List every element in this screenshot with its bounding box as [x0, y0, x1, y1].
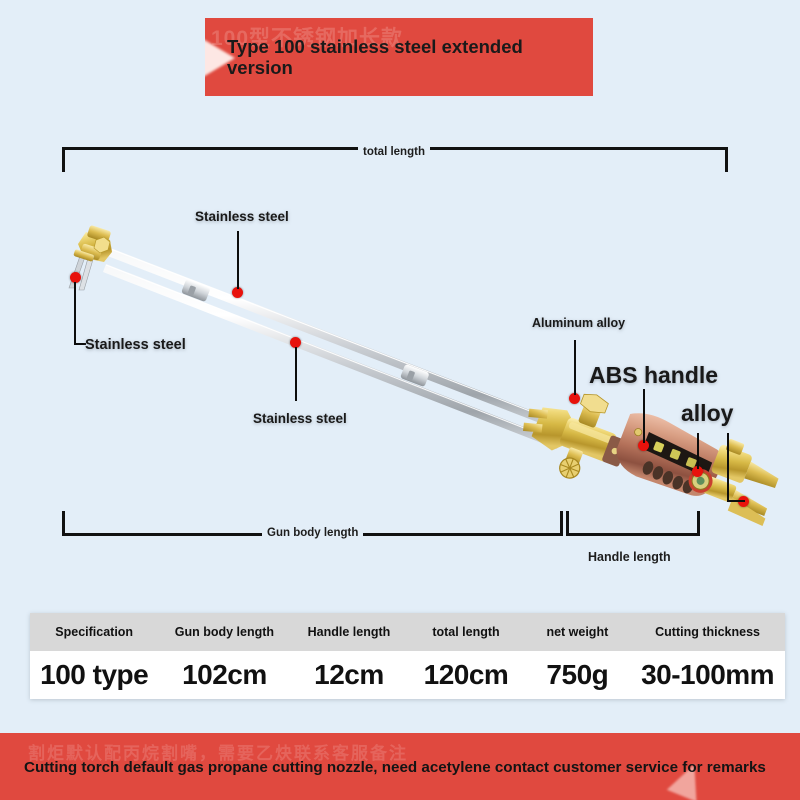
- footer-banner: 割炬默认配丙烷割嘴，需要乙炔联系客服备注 Cutting torch defau…: [0, 733, 800, 800]
- spec-value-cutting-thickness: 30-100mm: [630, 651, 785, 699]
- bracket-label-gun-body-length: Gun body length: [262, 527, 363, 539]
- spec-value-net-weight: 750g: [525, 651, 631, 699]
- leader-line-upper-tube: [237, 231, 239, 289]
- callout-label-upper-tube-stainless-steel: Stainless steel: [195, 209, 289, 224]
- footer-note: Cutting torch default gas propane cuttin…: [24, 759, 784, 776]
- spec-header-net-weight: net weight: [525, 613, 631, 651]
- spec-header-gun-body-length: Gun body length: [158, 613, 290, 651]
- bracket-label-handle-length: Handle length: [583, 550, 676, 564]
- spec-value-handle-length: 12cm: [290, 651, 407, 699]
- leader-line-alloy-upper: [697, 433, 699, 469]
- leader-line-alloy-lower: [727, 433, 729, 501]
- spec-header-specification: Specification: [30, 613, 158, 651]
- spec-header-cutting-thickness: Cutting thickness: [630, 613, 785, 651]
- spec-table: Specification Gun body length Handle len…: [30, 613, 785, 699]
- spec-value-specification: 100 type: [30, 651, 158, 699]
- leader-line-aluminum-alloy: [574, 340, 576, 395]
- spec-header-handle-length: Handle length: [290, 613, 407, 651]
- callout-label-lower-tube-stainless-steel: Stainless steel: [253, 411, 347, 426]
- product-infographic: 100型不锈钢加长款 Type 100 stainless steel exte…: [0, 0, 800, 800]
- spec-value-total-length: 120cm: [407, 651, 524, 699]
- callout-label-aluminum-alloy: Aluminum alloy: [532, 316, 625, 330]
- callout-label-abs-handle: ABS handle: [589, 362, 718, 389]
- leader-elbow-alloy-lower: [727, 500, 745, 502]
- callout-label-tip-stainless-steel: Stainless steel: [85, 337, 186, 353]
- spec-table-value-row: 100 type 102cm 12cm 120cm 750g 30-100mm: [30, 651, 785, 699]
- leader-line-tip: [74, 282, 76, 344]
- title-banner: 100型不锈钢加长款 Type 100 stainless steel exte…: [205, 18, 593, 96]
- page-title: Type 100 stainless steel extended versio…: [227, 18, 587, 96]
- leader-line-lower-tube: [295, 347, 297, 401]
- spec-header-total-length: total length: [407, 613, 524, 651]
- leader-line-abs-handle: [643, 389, 645, 443]
- bracket-handle-length: [566, 511, 700, 536]
- callout-label-alloy: alloy: [681, 400, 733, 427]
- spec-value-gun-body-length: 102cm: [158, 651, 290, 699]
- bracket-label-total-length: total length: [358, 146, 430, 158]
- spec-table-header-row: Specification Gun body length Handle len…: [30, 613, 785, 651]
